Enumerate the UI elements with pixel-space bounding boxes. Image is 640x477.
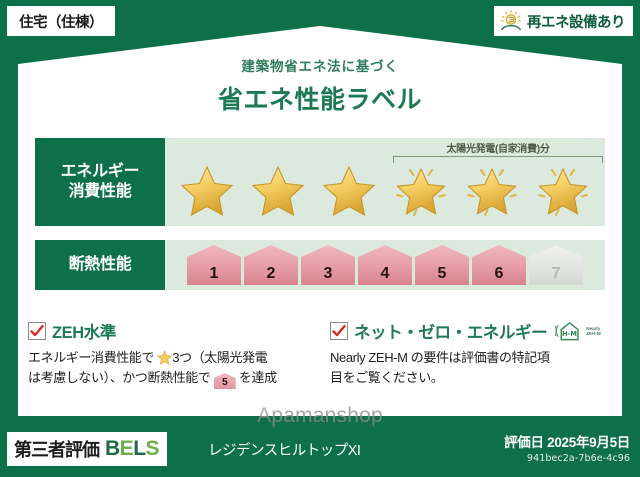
solar-sun-icon <box>498 9 524 33</box>
zeh-house-icon: H-M <box>555 319 585 343</box>
inline-insulation-badge: 5 <box>214 373 236 389</box>
insulation-badge-number: 4 <box>381 266 390 282</box>
energy-label-line-2: 消費性能 <box>69 182 132 202</box>
zeh-desc-part-2: は考慮しない）、かつ断熱性能で <box>28 370 211 385</box>
insulation-badge: 3 <box>301 245 355 285</box>
zeh-desc-part-3: を達成 <box>239 370 277 385</box>
rating-star-solar <box>462 162 522 220</box>
insulation-badge: 6 <box>472 245 526 285</box>
star-rating-group <box>165 160 605 222</box>
evaluation-info: 評価日 2025年9月5日 941bec2a-7b6e-4c96 <box>504 431 630 464</box>
zeh-standard-header: ZEH水準 <box>28 320 313 342</box>
zeh-standard-block: ZEH水準 エネルギー消費性能で 3つ（太陽光発電 は考慮しない）、かつ断熱性能… <box>28 320 313 389</box>
insulation-badge-group: 1 2 3 4 5 6 7 <box>165 240 605 290</box>
nearly-zeh-m-mark: H-M Nearly ZEH-M <box>555 319 601 343</box>
svg-text:H-M: H-M <box>562 330 577 338</box>
label-footer: 第三者評価 BELS レジデンスヒルトップXI 評価日 2025年9月5日 94… <box>0 425 640 477</box>
building-name: レジデンスヒルトップXI <box>208 439 360 460</box>
energy-rating-panel: 太陽光発電(自家消費)分 <box>165 138 605 226</box>
rating-star <box>319 162 379 220</box>
insulation-badge: 4 <box>358 245 412 285</box>
renewable-energy-label: 再エネ設備あり <box>527 11 625 32</box>
inline-star-icon <box>157 350 172 365</box>
title-subtitle: 建築物省エネ法に基づく <box>0 55 640 75</box>
third-party-eval-label: 第三者評価 <box>14 436 99 462</box>
insulation-badge-number: 3 <box>324 266 333 282</box>
insulation-badge: 1 <box>187 245 241 285</box>
energy-performance-label-block: エネルギー 消費性能 <box>35 138 165 226</box>
housing-type-label: 住宅（住棟） <box>19 11 103 32</box>
rating-star <box>177 162 237 220</box>
zeh-standard-title: ZEH水準 <box>52 319 116 343</box>
insulation-badge: 5 <box>415 245 469 285</box>
insulation-badge-number: 6 <box>495 266 504 282</box>
insulation-rating-panel: 1 2 3 4 5 6 7 <box>165 240 605 290</box>
bels-certification-mark: 第三者評価 BELS <box>7 432 167 466</box>
page-title: 省エネ性能ラベル <box>0 80 640 116</box>
net-zero-energy-header: ネット・ゼロ・エネルギー H-M Nearly ZEH-M <box>330 320 615 342</box>
insulation-badge-inactive: 7 <box>529 245 583 285</box>
nearly-zeh-m-text: Nearly ZEH-M <box>586 326 601 337</box>
insulation-badge: 2 <box>244 245 298 285</box>
net-zero-energy-block: ネット・ゼロ・エネルギー H-M Nearly ZEH-M Nearly ZEH… <box>330 320 615 388</box>
renewable-energy-badge: 再エネ設備あり <box>494 6 633 36</box>
insulation-badge-number: 7 <box>552 266 561 282</box>
watermark: Apamanshop <box>0 404 640 428</box>
checkmark-icon <box>330 322 348 340</box>
housing-type-badge: 住宅（住棟） <box>7 6 115 36</box>
rating-star-solar <box>391 162 451 220</box>
insulation-badge-number: 2 <box>267 266 276 282</box>
zeh-desc-part-1: エネルギー消費性能で <box>28 350 154 365</box>
net-zero-energy-description: Nearly ZEH-M の要件は評価書の特記項 目をご覧ください。 <box>330 348 615 388</box>
insulation-badge-number: 1 <box>210 266 219 282</box>
bels-logo: BELS <box>105 437 159 461</box>
rating-star-solar <box>533 162 593 220</box>
evaluation-uid: 941bec2a-7b6e-4c96 <box>504 453 630 464</box>
insulation-performance-row: 断熱性能 1 2 3 4 5 6 <box>35 240 605 290</box>
energy-label-line-1: エネルギー <box>61 162 140 182</box>
insulation-performance-label-block: 断熱性能 <box>35 240 165 290</box>
net-zero-energy-title: ネット・ゼロ・エネルギー <box>354 319 547 343</box>
solar-annotation-text: 太陽光発電(自家消費)分 <box>393 140 603 155</box>
nze-desc-line-2: 目をご覧ください。 <box>330 370 443 385</box>
insulation-badge-number: 5 <box>438 266 447 282</box>
title-block: 建築物省エネ法に基づく 省エネ性能ラベル <box>0 55 640 116</box>
solar-bracket <box>393 156 603 163</box>
solar-generation-annotation: 太陽光発電(自家消費)分 <box>393 140 603 163</box>
energy-performance-row: エネルギー 消費性能 太陽光発電(自家消費)分 <box>35 138 605 226</box>
insulation-label-line-1: 断熱性能 <box>69 255 132 275</box>
energy-performance-label: 住宅（住棟） 再エネ設備あり 建築物省エネ法に基づく <box>0 0 640 477</box>
checkmark-icon <box>28 322 46 340</box>
zeh-desc-star-count: 3つ（太陽光発電 <box>172 350 267 365</box>
nze-desc-line-1: Nearly ZEH-M の要件は評価書の特記項 <box>330 350 549 365</box>
rating-star <box>248 162 308 220</box>
zeh-standard-description: エネルギー消費性能で 3つ（太陽光発電 は考慮しない）、かつ断熱性能で 5 を達… <box>28 348 313 389</box>
evaluation-date: 評価日 2025年9月5日 <box>504 431 630 451</box>
